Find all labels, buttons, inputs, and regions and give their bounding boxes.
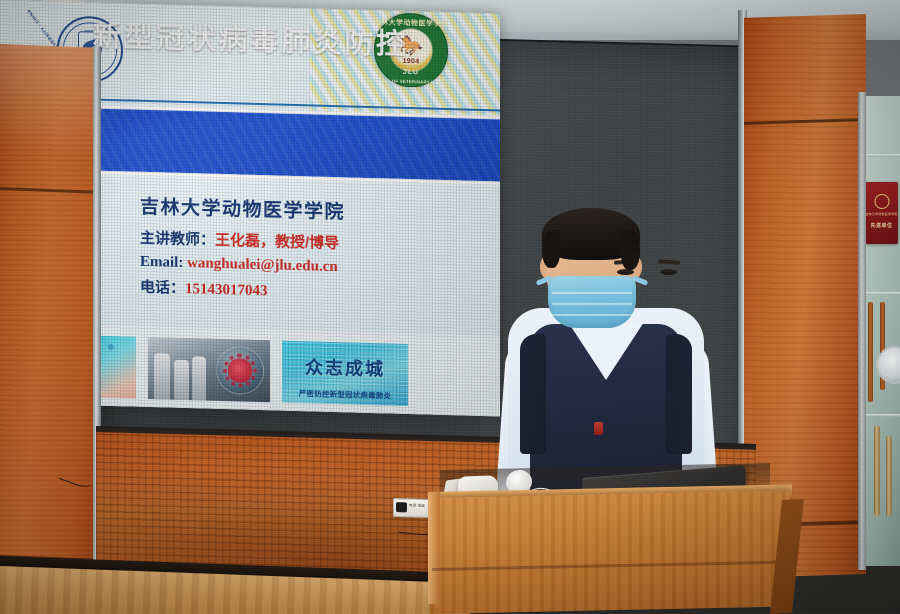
- eye-right: [660, 269, 677, 275]
- virus-particle-icon: [228, 358, 252, 383]
- vest-shoulder-right: [666, 334, 692, 454]
- plaque-emblem-icon: [874, 194, 889, 209]
- hair-side-left: [542, 230, 560, 268]
- slide-text-block: 吉林大学动物医学学院 主讲教师：王化磊，教授/博导 Email: wanghua…: [140, 192, 480, 306]
- unity-subtitle: 严密防控新型冠状病毒肺炎: [299, 388, 391, 402]
- plaque-line-1: 吉林大学动物医学学院: [865, 212, 897, 216]
- virus-globe-icon: [216, 346, 264, 395]
- trophy-column: [874, 426, 880, 516]
- lecturer-label: 主讲教师：: [140, 230, 215, 249]
- staff-figure: [192, 356, 206, 400]
- photo-scene: JILIN UNIVERSITY · CHINA 1946 吉林大学 吉林大学动…: [0, 0, 900, 614]
- surgical-face-mask: [548, 276, 636, 328]
- vest-shoulder-left: [520, 334, 546, 454]
- outlet-label: 电源 插座: [409, 503, 425, 508]
- cabinet-frame: [858, 92, 866, 570]
- email-value: wanghualei@jlu.edu.cn: [187, 255, 338, 275]
- staff-figure: [154, 353, 170, 399]
- plaque-line-2: 先进单位: [870, 222, 892, 229]
- medical-staff-virus-banner: [148, 337, 270, 402]
- red-award-plaque: 吉林大学动物医学学院 先进单位: [865, 182, 898, 244]
- lectern-left-edge: [428, 492, 440, 604]
- hair-side-right: [621, 230, 640, 270]
- phone-label: 电话：: [140, 279, 185, 297]
- staff-figure: [174, 360, 189, 400]
- mask-pleat: [552, 292, 632, 294]
- cabinet-shelf: [862, 292, 900, 295]
- mask-pleat: [552, 314, 632, 316]
- decor-dot: [108, 344, 114, 350]
- unity-headline: 众志成城: [305, 353, 385, 381]
- eyebrow-right: [658, 259, 680, 265]
- vest-logo-badge: [594, 422, 603, 435]
- wooden-lectern: [430, 490, 790, 614]
- slide-lecturer-row: 主讲教师：王化磊，教授/博导: [140, 227, 480, 257]
- mask-pleat: [552, 303, 632, 305]
- unity-slogan-banner: 众志成城 严密防控新型冠状病毒肺炎: [282, 341, 408, 406]
- lecturer-value: 王化磊，教授/博导: [215, 232, 339, 252]
- cabinet-shelf: [862, 154, 900, 157]
- trophy-display-cabinet: 吉林大学动物医学学院 先进单位: [862, 96, 900, 566]
- vest-neckline: [568, 322, 644, 380]
- cabinet-shelf: [862, 414, 900, 417]
- slide-email-row: Email: wanghualei@jlu.edu.cn: [140, 254, 480, 280]
- award-rod: [868, 302, 873, 402]
- wall-panel-left-highlight: [0, 44, 100, 158]
- trophy-column: [886, 436, 892, 516]
- phone-value: 15143017043: [185, 281, 268, 299]
- email-label: Email:: [140, 254, 183, 271]
